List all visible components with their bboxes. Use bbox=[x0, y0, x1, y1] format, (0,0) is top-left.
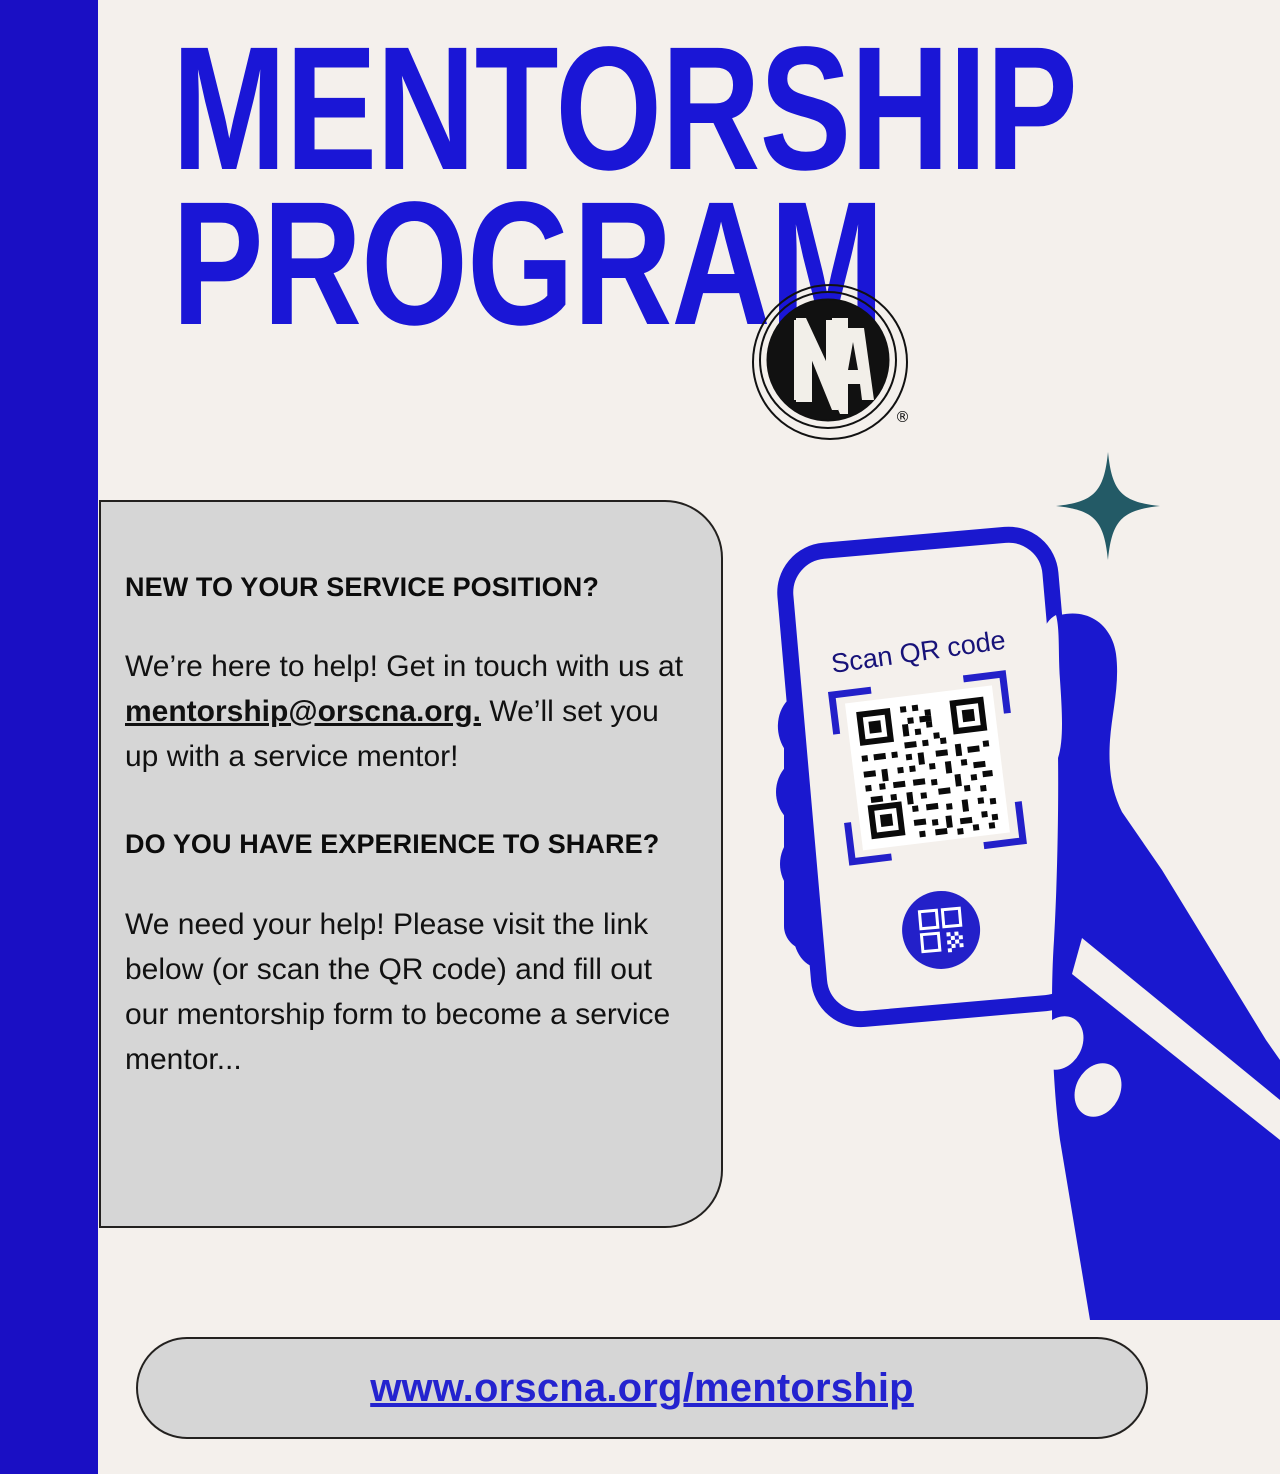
poster-canvas: MENTORSHIP PROGRAM ® NEW TO YOUR SERVICE… bbox=[0, 0, 1280, 1474]
info-card: NEW TO YOUR SERVICE POSITION? We’re here… bbox=[99, 500, 723, 1228]
title-line-2: PROGRAM bbox=[172, 187, 734, 342]
card-heading-experience: DO YOU HAVE EXPERIENCE TO SHARE? bbox=[125, 827, 691, 863]
website-url-link[interactable]: www.orscna.org/mentorship bbox=[370, 1366, 914, 1411]
mentorship-email-link[interactable]: mentorship@orscna.org. bbox=[125, 695, 481, 728]
title-line-1: MENTORSHIP bbox=[172, 32, 734, 187]
phone-in-hand-illustration: Scan QR code bbox=[760, 440, 1280, 1320]
illustration-svg: Scan QR code bbox=[760, 440, 1280, 1320]
na-monogram-icon bbox=[766, 298, 890, 422]
left-accent-stripe bbox=[0, 0, 98, 1474]
card-heading-new-to-service: NEW TO YOUR SERVICE POSITION? bbox=[125, 570, 691, 606]
website-url-banner[interactable]: www.orscna.org/mentorship bbox=[136, 1337, 1148, 1439]
na-logo: ® bbox=[752, 284, 904, 436]
page-title: MENTORSHIP PROGRAM bbox=[172, 32, 734, 342]
sparkle-star-icon bbox=[1056, 452, 1160, 560]
card-paragraph-contact: We’re here to help! Get in touch with us… bbox=[125, 644, 691, 779]
registered-trademark-icon: ® bbox=[895, 408, 910, 426]
paragraph1-text-before: We’re here to help! Get in touch with us… bbox=[125, 650, 683, 683]
card-paragraph-volunteer: We need your help! Please visit the link… bbox=[125, 902, 691, 1082]
